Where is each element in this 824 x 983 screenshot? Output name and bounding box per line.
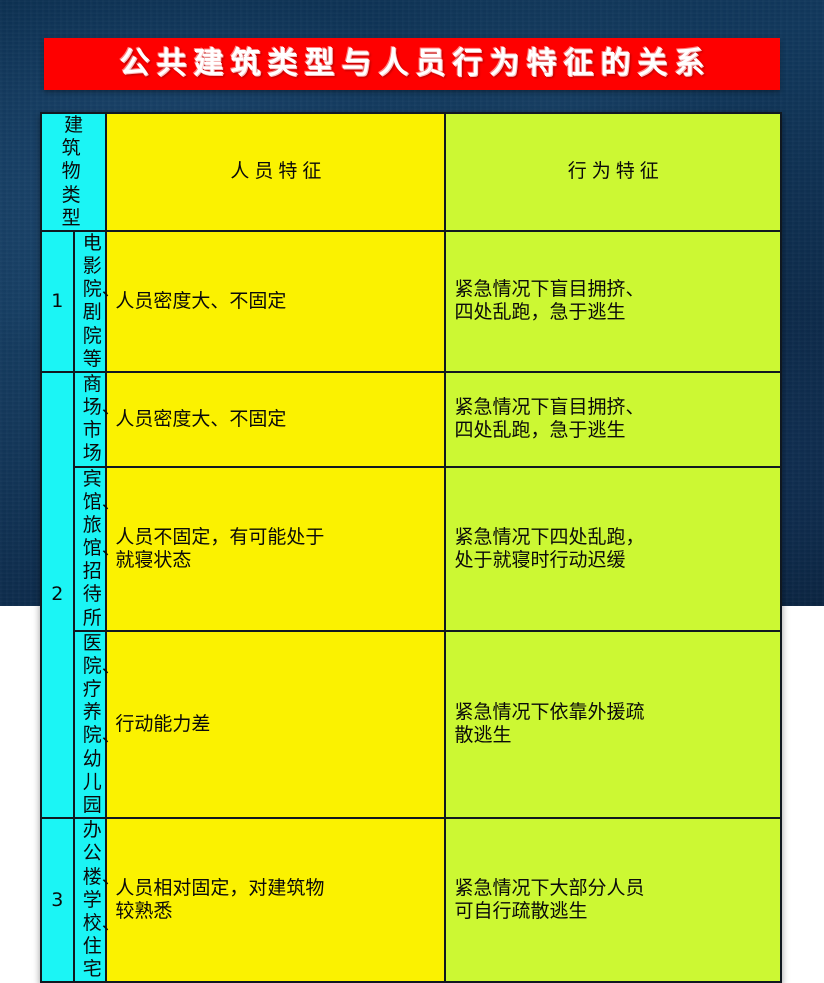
cell-line: 招待所 xyxy=(83,560,98,630)
cell-line: 剧院等 xyxy=(83,301,98,371)
cell-line: 人员密度大、不固定 xyxy=(115,290,436,313)
cell-personnel-feature: 人员密度大、不固定 xyxy=(106,372,445,467)
cell-line: 宾馆、旅馆、 xyxy=(83,468,98,561)
cell-behavior-feature: 紧急情况下大部分人员 可自行疏散逃生 xyxy=(445,818,781,982)
cell-personnel-feature: 行动能力差 xyxy=(106,631,445,818)
relationship-table: 建筑物类型 人员特征 行为特征 1 电影院、 剧院等 人员密度大、不固定 紧急情… xyxy=(40,112,782,983)
header-building-type: 建筑物类型 xyxy=(41,113,106,231)
cell-building-type: 办公楼、学校、 住宅 xyxy=(74,818,107,982)
cell-line: 紧急情况下四处乱跑， xyxy=(454,526,772,549)
cell-line: 四处乱跑，急于逃生 xyxy=(454,419,772,442)
table-row: 宾馆、旅馆、 招待所 人员不固定，有可能处于 就寝状态 紧急情况下四处乱跑， 处… xyxy=(41,467,781,631)
cell-personnel-feature: 人员相对固定，对建筑物 较熟悉 xyxy=(106,818,445,982)
cell-line: 人员相对固定，对建筑物 xyxy=(115,877,436,900)
cell-line: 人员密度大、不固定 xyxy=(115,408,436,431)
cell-building-type: 电影院、 剧院等 xyxy=(74,231,107,372)
cell-behavior-feature: 紧急情况下依靠外援疏 散逃生 xyxy=(445,631,781,818)
cell-line: 办公楼、学校、 xyxy=(83,819,98,935)
cell-behavior-feature: 紧急情况下盲目拥挤、 四处乱跑，急于逃生 xyxy=(445,231,781,372)
cell-line: 较熟悉 xyxy=(115,900,436,923)
row-number: 3 xyxy=(41,818,74,982)
table-row: 3 办公楼、学校、 住宅 人员相对固定，对建筑物 较熟悉 紧急情况下大部分人员 … xyxy=(41,818,781,982)
cell-line: 紧急情况下盲目拥挤、 xyxy=(454,396,772,419)
cell-building-type: 宾馆、旅馆、 招待所 xyxy=(74,467,107,631)
cell-line: 就寝状态 xyxy=(115,549,436,572)
cell-line: 可自行疏散逃生 xyxy=(454,900,772,923)
cell-personnel-feature: 人员密度大、不固定 xyxy=(106,231,445,372)
cell-line: 电影院、 xyxy=(83,232,98,302)
table-row: 医院、疗养院、 幼儿园 行动能力差 紧急情况下依靠外援疏 散逃生 xyxy=(41,631,781,818)
title-banner: 公共建筑类型与人员行为特征的关系 xyxy=(44,38,780,90)
cell-line: 医院、疗养院、 xyxy=(83,632,98,748)
table-header-row: 建筑物类型 人员特征 行为特征 xyxy=(41,113,781,231)
cell-line: 紧急情况下盲目拥挤、 xyxy=(454,278,772,301)
cell-behavior-feature: 紧急情况下四处乱跑， 处于就寝时行动迟缓 xyxy=(445,467,781,631)
cell-line: 幼儿园 xyxy=(83,748,98,818)
page-title: 公共建筑类型与人员行为特征的关系 xyxy=(113,49,712,79)
cell-building-type: 商场、市场 xyxy=(74,372,107,467)
cell-line: 商场、市场 xyxy=(83,373,98,466)
header-personnel-feature: 人员特征 xyxy=(106,113,445,231)
cell-line: 住宅 xyxy=(83,935,98,981)
cell-line: 处于就寝时行动迟缓 xyxy=(454,549,772,572)
cell-line: 人员不固定，有可能处于 xyxy=(115,526,436,549)
slide-canvas: 公共建筑类型与人员行为特征的关系 建筑物类型 人员特征 行为特征 1 电影院、 … xyxy=(0,0,824,606)
cell-line: 行动能力差 xyxy=(115,713,436,736)
cell-line: 散逃生 xyxy=(454,724,772,747)
cell-line: 紧急情况下大部分人员 xyxy=(454,877,772,900)
table-row: 1 电影院、 剧院等 人员密度大、不固定 紧急情况下盲目拥挤、 四处乱跑，急于逃… xyxy=(41,231,781,372)
cell-building-type: 医院、疗养院、 幼儿园 xyxy=(74,631,107,818)
row-number: 2 xyxy=(41,372,74,818)
cell-line: 紧急情况下依靠外援疏 xyxy=(454,701,772,724)
table-row: 2 商场、市场 人员密度大、不固定 紧急情况下盲目拥挤、 四处乱跑，急于逃生 xyxy=(41,372,781,467)
header-behavior-feature: 行为特征 xyxy=(445,113,781,231)
cell-personnel-feature: 人员不固定，有可能处于 就寝状态 xyxy=(106,467,445,631)
cell-behavior-feature: 紧急情况下盲目拥挤、 四处乱跑，急于逃生 xyxy=(445,372,781,467)
row-number: 1 xyxy=(41,231,74,372)
cell-line: 四处乱跑，急于逃生 xyxy=(454,301,772,324)
